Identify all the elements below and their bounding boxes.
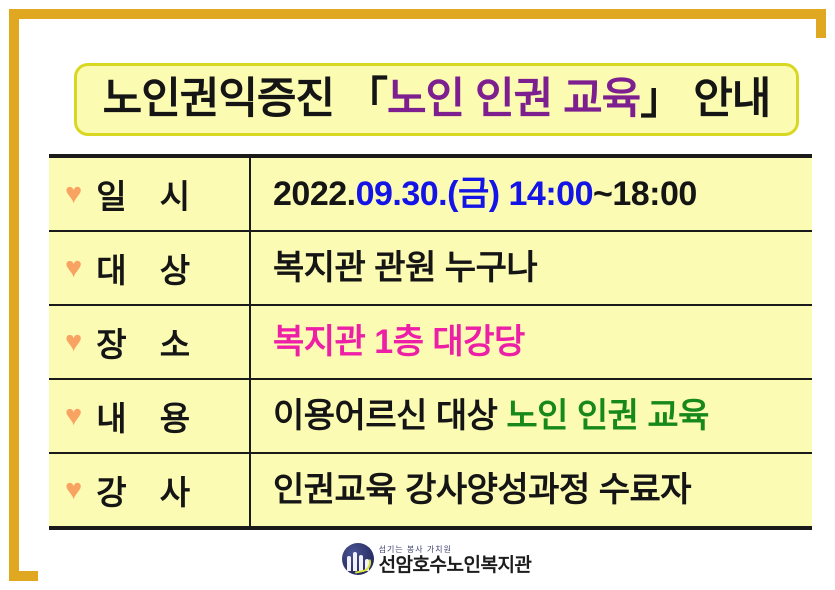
row-label: 장 소 xyxy=(96,318,202,366)
row-value: 복지관 1층 대강당 xyxy=(273,325,525,359)
row-value-cell: 이용어르신 대상 노인 인권 교육 xyxy=(251,380,812,452)
heart-icon: ♥ xyxy=(65,476,82,505)
value-segment xyxy=(500,175,509,213)
table-row: ♥ 장 소 복지관 1층 대강당 xyxy=(49,306,812,380)
table-row: ♥ 일 시 2022.09.30.(금) 14:00~18:00 xyxy=(49,158,812,232)
heart-icon: ♥ xyxy=(65,402,82,431)
poster-canvas: 노인권익증진 「노인 인권 교육」 안내 ♥ 일 시 2022.09.30.(금… xyxy=(0,0,835,590)
value-segment: 복지관 관원 누구나 xyxy=(273,249,537,287)
row-label: 강 사 xyxy=(96,466,202,514)
row-label-cell: ♥ 일 시 xyxy=(49,158,251,230)
value-segment: 09.30.(금) xyxy=(356,175,500,213)
logo-figure xyxy=(347,556,351,571)
value-segment: 2022. xyxy=(273,175,356,213)
table-row: ♥ 내 용 이용어르신 대상 노인 인권 교육 xyxy=(49,380,812,454)
info-table: ♥ 일 시 2022.09.30.(금) 14:00~18:00 ♥ 대 상 xyxy=(49,154,812,530)
value-segment: 14:00 xyxy=(509,175,593,213)
row-value: 이용어르신 대상 노인 인권 교육 xyxy=(273,399,709,433)
organization-logo: 섬기는 봉사 가치원 선암호수노인복지관 xyxy=(342,543,532,575)
welfare-center-logo-icon xyxy=(342,543,374,575)
row-value-cell: 2022.09.30.(금) 14:00~18:00 xyxy=(251,158,812,230)
inner-white-panel: 노인권익증진 「노인 인권 교육」 안내 ♥ 일 시 2022.09.30.(금… xyxy=(38,38,835,590)
logo-swoosh-icon xyxy=(353,559,373,574)
row-label-cell: ♥ 장 소 xyxy=(49,306,251,378)
title-prefix: 노인권익증진 「 xyxy=(103,75,387,123)
row-label: 내 용 xyxy=(96,392,202,440)
row-label-cell: ♥ 강 사 xyxy=(49,454,251,526)
row-label: 대 상 xyxy=(96,244,202,292)
title-suffix: 」 안내 xyxy=(640,75,770,123)
row-value: 2022.09.30.(금) 14:00~18:00 xyxy=(273,177,697,211)
table-row: ♥ 대 상 복지관 관원 누구나 xyxy=(49,232,812,306)
outer-gold-frame: 노인권익증진 「노인 인권 교육」 안내 ♥ 일 시 2022.09.30.(금… xyxy=(9,9,826,581)
logo-wordmark: 섬기는 봉사 가치원 선암호수노인복지관 xyxy=(379,546,532,575)
row-label-cell: ♥ 내 용 xyxy=(49,380,251,452)
logo-slogan: 섬기는 봉사 가치원 xyxy=(379,546,452,554)
value-segment: 이용어르신 대상 xyxy=(273,397,506,435)
value-segment: 복지관 1층 대강당 xyxy=(273,323,525,361)
value-segment: 노인 인권 교육 xyxy=(506,397,709,435)
heart-icon: ♥ xyxy=(65,254,82,283)
page-title: 노인권익증진 「노인 인권 교육」 안내 xyxy=(103,78,771,121)
poster-title-banner: 노인권익증진 「노인 인권 교육」 안내 xyxy=(74,63,799,136)
row-value-cell: 인권교육 강사양성과정 수료자 xyxy=(251,454,812,526)
title-highlight: 노인 인권 교육 xyxy=(387,75,640,123)
heart-icon: ♥ xyxy=(65,328,82,357)
value-segment: ~18:00 xyxy=(593,175,697,213)
heart-icon: ♥ xyxy=(65,180,82,209)
value-segment: 인권교육 강사양성과정 수료자 xyxy=(273,471,691,509)
organization-name: 선암호수노인복지관 xyxy=(379,556,532,575)
row-label: 일 시 xyxy=(96,170,202,218)
footer-logo-area: 섬기는 봉사 가치원 선암호수노인복지관 xyxy=(38,543,835,575)
row-value: 복지관 관원 누구나 xyxy=(273,251,537,285)
row-value-cell: 복지관 1층 대강당 xyxy=(251,306,812,378)
row-value: 인권교육 강사양성과정 수료자 xyxy=(273,473,691,507)
row-label-cell: ♥ 대 상 xyxy=(49,232,251,304)
row-value-cell: 복지관 관원 누구나 xyxy=(251,232,812,304)
table-row: ♥ 강 사 인권교육 강사양성과정 수료자 xyxy=(49,454,812,526)
